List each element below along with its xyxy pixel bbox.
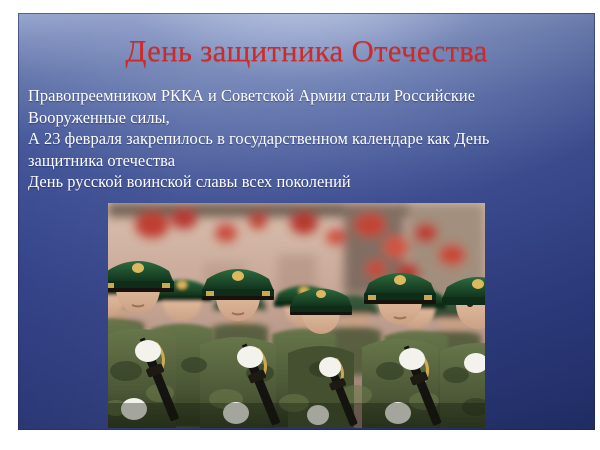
body-line: А 23 февраля закрепилось в государственн… xyxy=(28,128,588,150)
parade-photo-graphic xyxy=(108,203,485,428)
body-line: Вооруженные силы, xyxy=(28,107,588,129)
title-block: День защитника Отечества xyxy=(18,35,595,68)
body-text-block: Правопреемником РККА и Советской Армии с… xyxy=(28,85,588,193)
body-line: День русской воинской славы всех поколен… xyxy=(28,171,588,193)
military-parade-photo xyxy=(108,203,485,428)
body-line: Правопреемником РККА и Советской Армии с… xyxy=(28,85,588,107)
slide-canvas: День защитника Отечества Правопреемником… xyxy=(18,13,595,430)
page-title: День защитника Отечества xyxy=(125,35,487,68)
presentation-slide: День защитника Отечества Правопреемником… xyxy=(0,0,600,450)
body-line: защитника отечества xyxy=(28,150,588,172)
